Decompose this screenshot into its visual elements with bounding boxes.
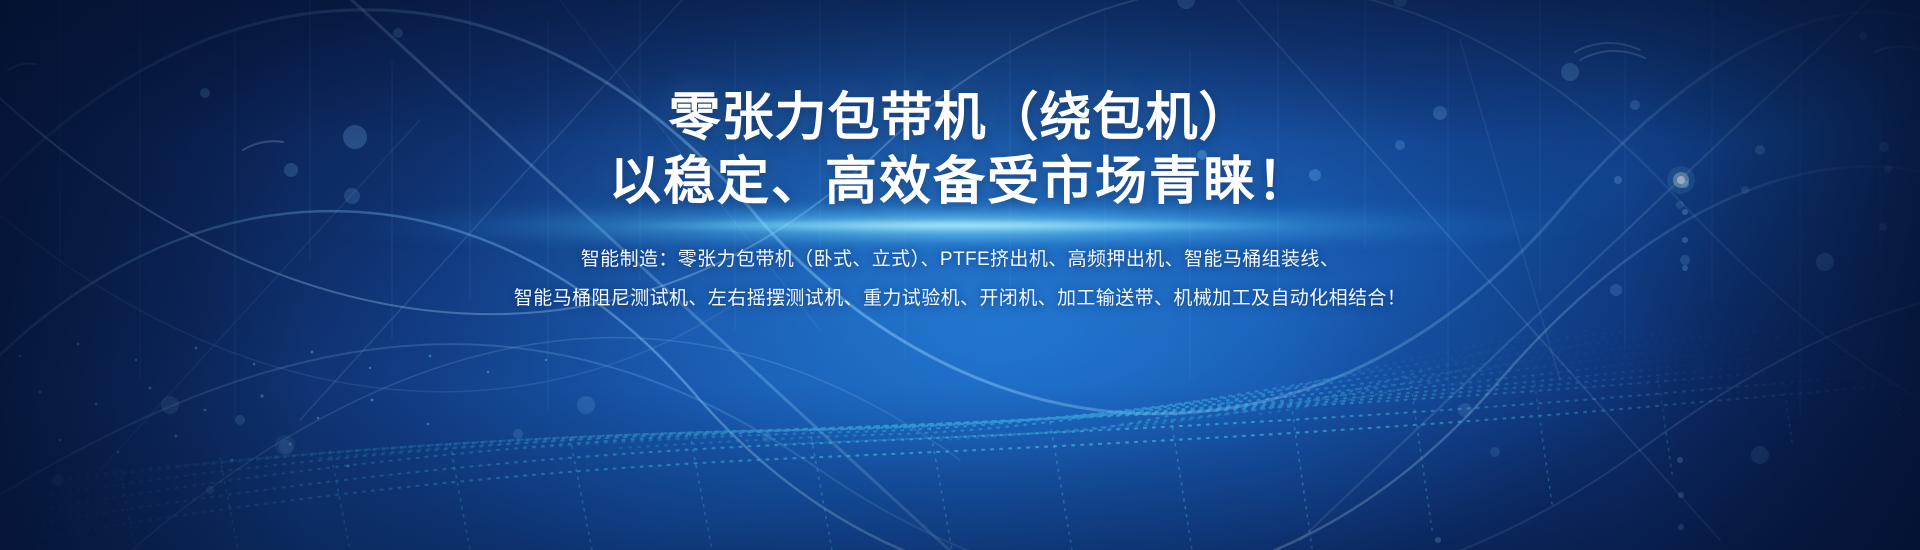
banner-content: 零张力包带机（绕包机） 以稳定、高效备受市场青睐！ 智能制造：零张力包带机（卧式…	[0, 88, 1920, 319]
subtitle-line-1: 智能制造：零张力包带机（卧式、立式）、PTFE挤出机、高频押出机、智能马桶组装线…	[0, 241, 1920, 280]
headline-line-1: 零张力包带机（绕包机）	[0, 88, 1920, 148]
hero-banner: 零张力包带机（绕包机） 以稳定、高效备受市场青睐！ 智能制造：零张力包带机（卧式…	[0, 0, 1920, 550]
subtitle-block: 智能制造：零张力包带机（卧式、立式）、PTFE挤出机、高频押出机、智能马桶组装线…	[0, 241, 1920, 319]
headline-line-2: 以稳定、高效备受市场青睐！	[0, 152, 1920, 212]
subtitle-line-2: 智能马桶阻尼测试机、左右摇摆测试机、重力试验机、开闭机、加工输送带、机械加工及自…	[0, 280, 1920, 319]
